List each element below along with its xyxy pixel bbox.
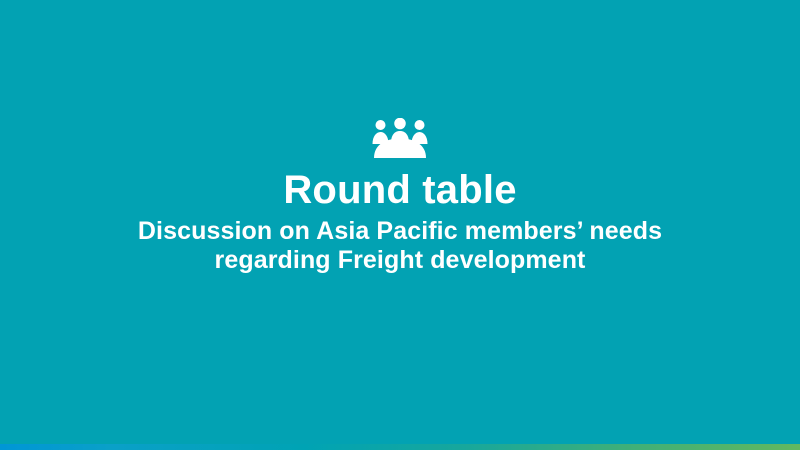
slide-subtitle-line-2: regarding Freight development [0,246,800,275]
bottom-accent-bar [0,444,800,450]
slide-content-block: Round table Discussion on Asia Pacific m… [0,0,800,450]
presentation-slide: Round table Discussion on Asia Pacific m… [0,0,800,450]
slide-subtitle-line-1: Discussion on Asia Pacific members’ need… [0,217,800,246]
page-title: Round table [0,168,800,212]
meeting-people-icon [372,118,429,158]
slide-subtitle: Discussion on Asia Pacific members’ need… [0,217,800,275]
